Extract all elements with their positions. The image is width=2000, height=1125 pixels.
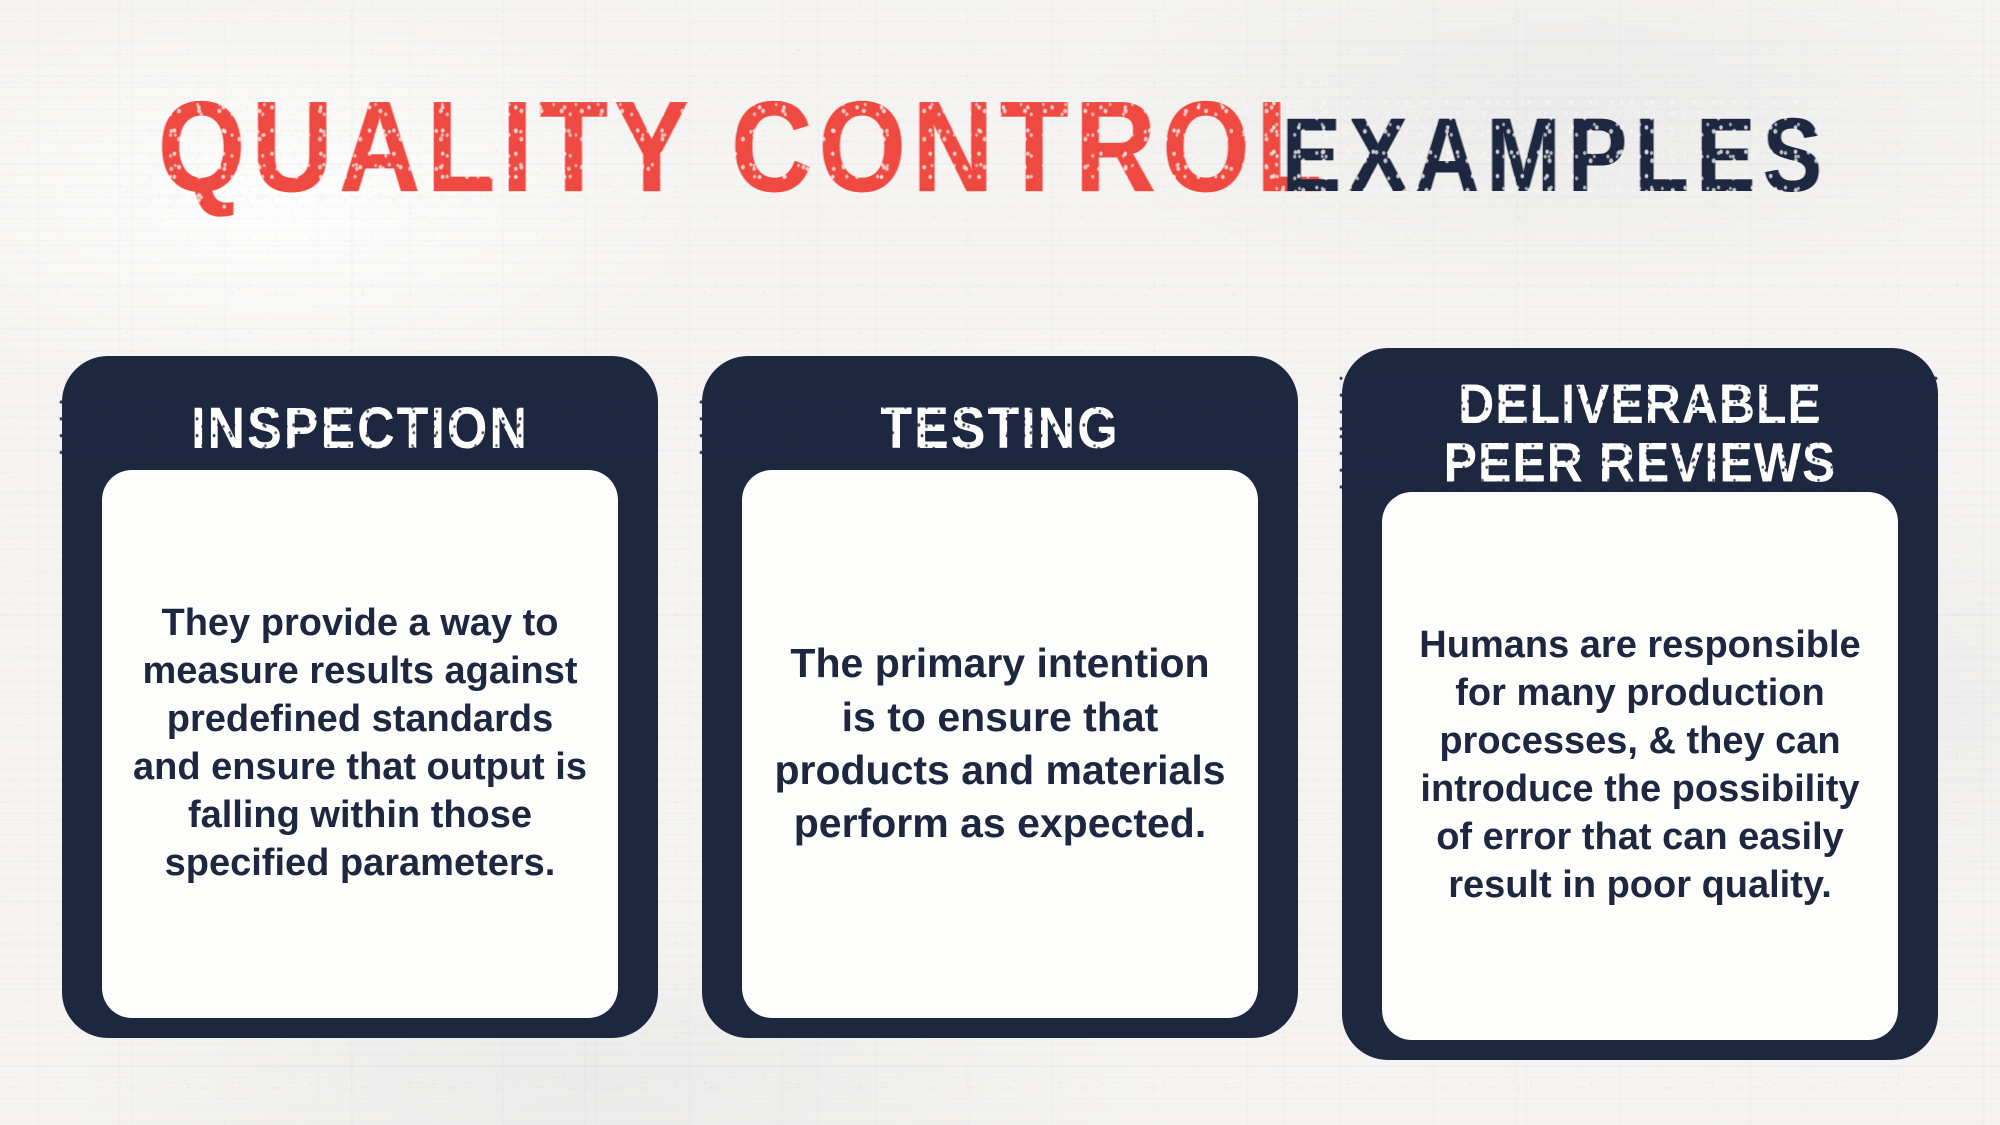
card-deliverable-peer-reviews-heading-line-1: DELIVERABLE <box>1342 375 1938 433</box>
poster-title-primary: QUALITY CONTROL <box>158 85 1331 212</box>
card-inspection-heading-line-1: INSPECTION <box>62 399 658 460</box>
card-testing-heading-line-1: TESTING <box>702 399 1298 460</box>
card-deliverable-peer-reviews: DELIVERABLE PEER REVIEWS Humans are resp… <box>1342 348 1938 1060</box>
card-testing-heading: TESTING <box>702 356 1298 459</box>
poster-title-secondary: EXAMPLES <box>1282 104 1830 209</box>
card-inspection-body-text: They provide a way to measure results ag… <box>128 600 592 887</box>
card-testing-body-panel: The primary intention is to ensure that … <box>742 470 1258 1018</box>
card-testing: TESTING The primary intention is to ensu… <box>702 356 1298 1038</box>
card-inspection-body-panel: They provide a way to measure results ag… <box>102 470 618 1018</box>
card-inspection-heading: INSPECTION <box>62 356 658 459</box>
card-deliverable-peer-reviews-heading: DELIVERABLE PEER REVIEWS <box>1342 348 1938 491</box>
card-group: INSPECTION They provide a way to measure… <box>0 348 2000 1088</box>
card-deliverable-peer-reviews-heading-line-2: PEER REVIEWS <box>1342 433 1938 491</box>
card-testing-body-text: The primary intention is to ensure that … <box>768 637 1232 850</box>
card-inspection: INSPECTION They provide a way to measure… <box>62 356 658 1038</box>
infographic-poster: QUALITY CONTROL EXAMPLES INSPECTION They… <box>0 0 2000 1125</box>
poster-title-block: QUALITY CONTROL EXAMPLES <box>0 44 2000 189</box>
card-deliverable-peer-reviews-body-panel: Humans are responsible for many producti… <box>1382 492 1898 1040</box>
card-deliverable-peer-reviews-body-text: Humans are responsible for many producti… <box>1408 622 1872 909</box>
